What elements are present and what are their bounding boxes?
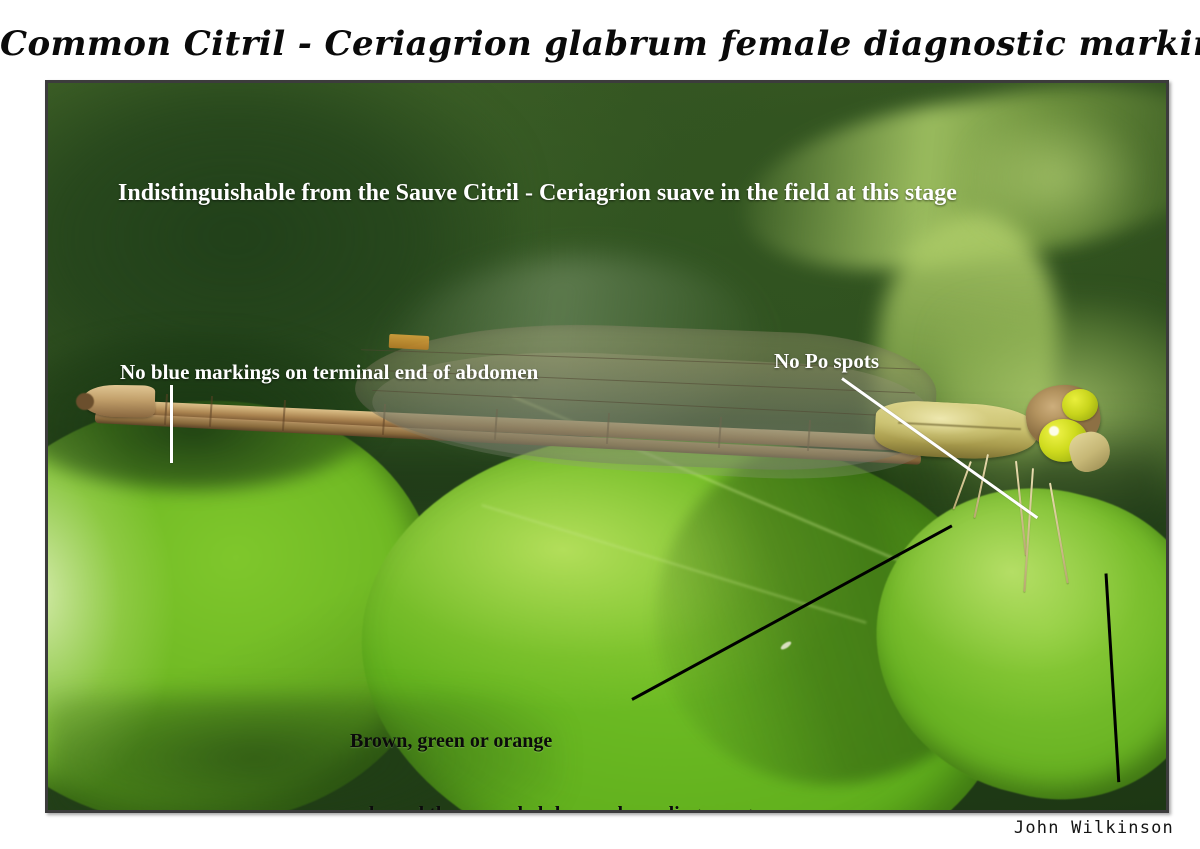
damselfly-leg	[1023, 468, 1034, 591]
damselfly-cerci	[76, 393, 94, 410]
photographer-credit: John Wilkinson	[1014, 818, 1174, 838]
eye-specular-highlight	[1049, 426, 1059, 435]
annotation-thorax-colour: Brown, green or orange coloured thorax a…	[350, 680, 761, 810]
damselfly-leg	[974, 454, 990, 518]
annotation-no-blue-markings: No blue markings on terminal end of abdo…	[120, 360, 538, 386]
annotation-no-po-spots: No Po spots	[774, 349, 879, 375]
poster-page: Common Citril - Ceriagrion glabrum femal…	[0, 0, 1200, 849]
page-title: Common Citril - Ceriagrion glabrum femal…	[0, 24, 1200, 64]
damselfly-leg	[1049, 482, 1069, 583]
damselfly-thorax	[874, 399, 1039, 462]
photo-subtitle: Indistinguishable from the Sauve Citril …	[118, 180, 957, 207]
leader-line-no-blue-markings	[170, 385, 173, 463]
damselfly-photograph: Indistinguishable from the Sauve Citril …	[48, 83, 1166, 810]
annotation-thorax-colour-line1: Brown, green or orange	[350, 729, 761, 753]
photo-frame: Indistinguishable from the Sauve Citril …	[45, 80, 1169, 813]
damselfly-pterostigma	[389, 333, 430, 349]
annotation-sloping-face: Sloping angle of face rather striking	[989, 783, 1154, 810]
damselfly-eye-far	[1062, 389, 1098, 421]
annotation-thorax-colour-line2: coloured thorax and abdomen depending on…	[350, 802, 761, 810]
